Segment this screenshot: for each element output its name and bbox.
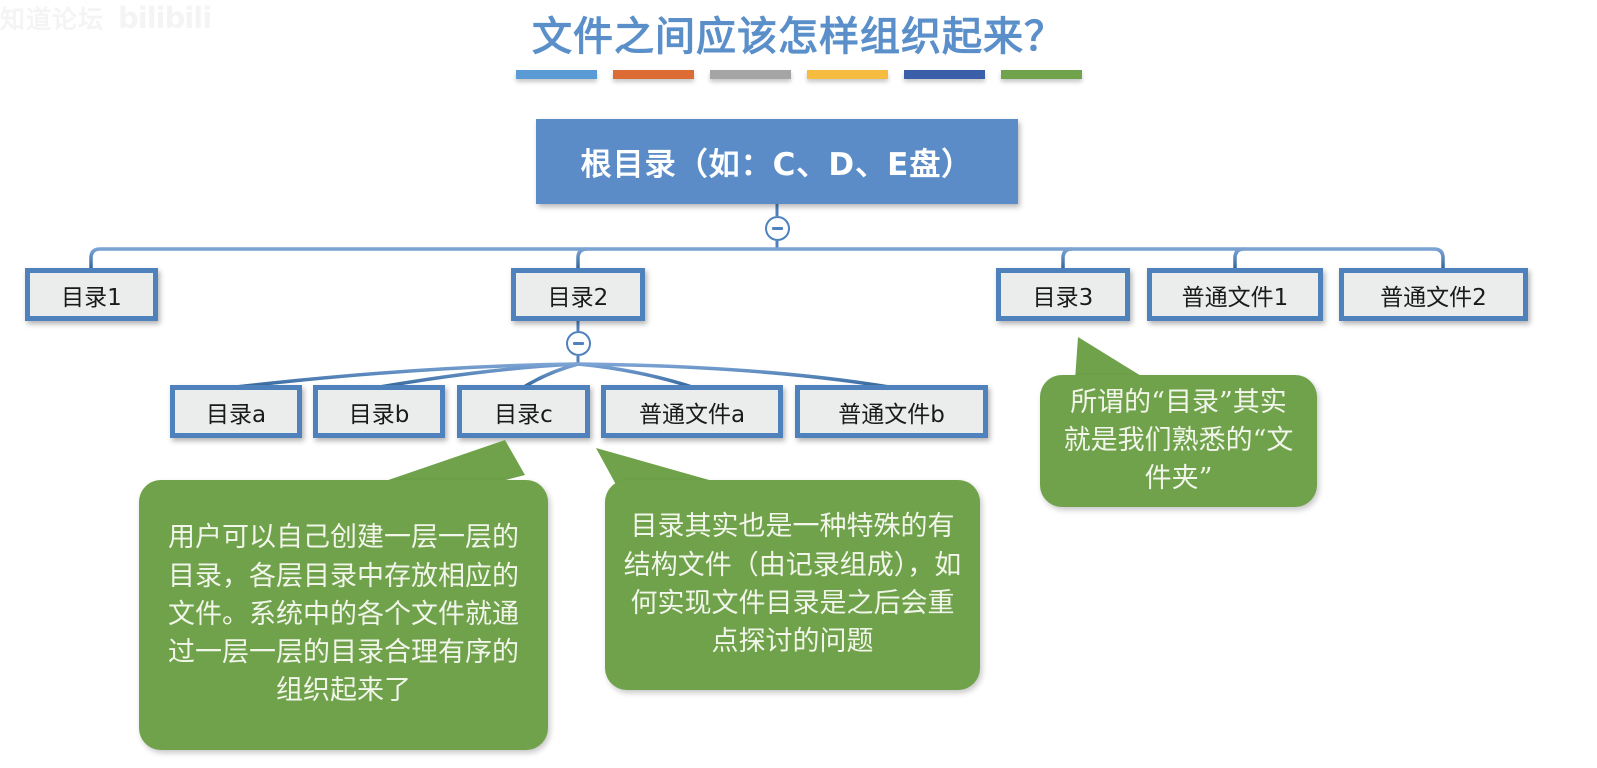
- callout-left-text: 用户可以自己创建一层一层的目录，各层目录中存放相应的文件。系统中的各个文件就通过…: [157, 519, 530, 711]
- callout-mid: 目录其实也是一种特殊的有结构文件（由记录组成），如何实现文件目录是之后会重点探讨…: [605, 480, 980, 690]
- callout-left: 用户可以自己创建一层一层的目录，各层目录中存放相应的文件。系统中的各个文件就通过…: [139, 480, 548, 750]
- callout-right-text: 所谓的“目录”其实就是我们熟悉的“文件夹”: [1058, 384, 1299, 499]
- callout-mid-text: 目录其实也是一种特殊的有结构文件（由记录组成），如何实现文件目录是之后会重点探讨…: [623, 508, 962, 661]
- callout-right: 所谓的“目录”其实就是我们熟悉的“文件夹”: [1040, 375, 1317, 507]
